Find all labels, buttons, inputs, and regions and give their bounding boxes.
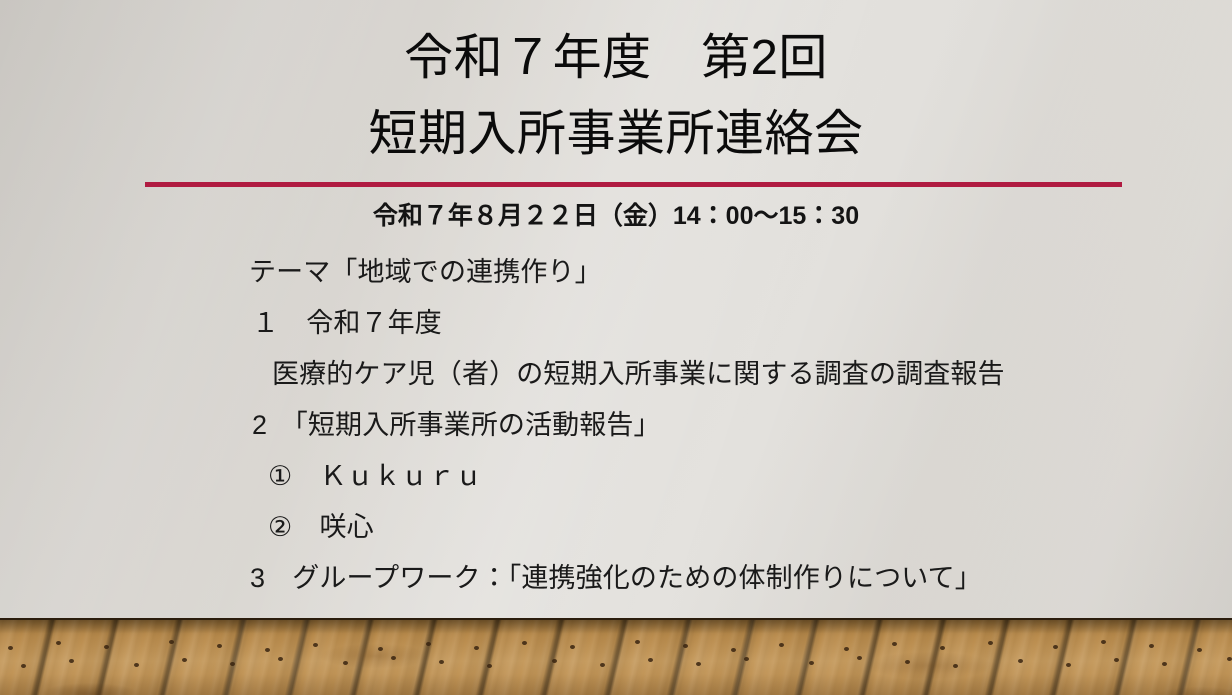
agenda-item-2: 2 「短期入所事業所の活動報告」 [0, 400, 1232, 451]
agenda-item-1-detail: 医療的ケア児（者）の短期入所事業に関する調査の調査報告 [0, 349, 1232, 400]
slide-title: 令和７年度 第2回 短期入所事業所連絡会 [0, 22, 1232, 170]
title-divider-rule [145, 182, 1122, 187]
date-time-subtitle: 令和７年８月２２日（金）14：00〜15：30 [0, 199, 1232, 233]
agenda-item-2-sub-2: ② 咲心 [0, 502, 1232, 553]
title-line-1: 令和７年度 第2回 [0, 22, 1232, 94]
wood-floor-decoration [0, 618, 1232, 695]
agenda-list: テーマ「地域での連携作り」 １ 令和７年度 医療的ケア児（者）の短期入所事業に関… [0, 247, 1232, 604]
agenda-item-3: 3 グループワーク：「連携強化のための体制作りについて」 [0, 553, 1232, 604]
agenda-item-1: １ 令和７年度 [0, 298, 1232, 349]
floor-shading [0, 620, 1232, 695]
agenda-theme: テーマ「地域での連携作り」 [0, 247, 1232, 298]
agenda-item-2-sub-1: ① Ｋｕｋｕｒｕ [0, 451, 1232, 502]
title-line-2: 短期入所事業所連絡会 [0, 98, 1232, 170]
presentation-slide: 令和７年度 第2回 短期入所事業所連絡会 令和７年８月２２日（金）14：00〜1… [0, 0, 1232, 695]
